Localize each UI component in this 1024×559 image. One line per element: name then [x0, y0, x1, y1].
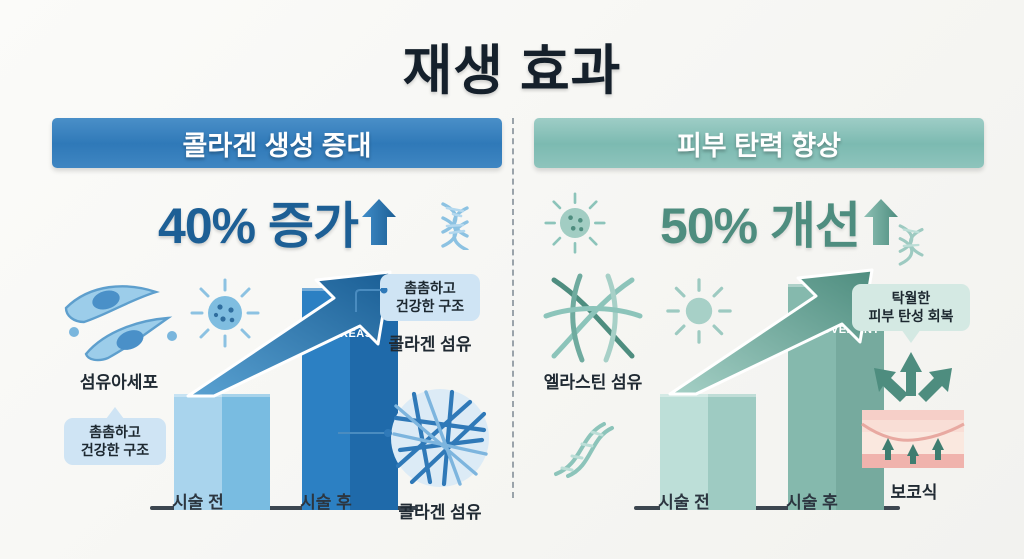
- up-arrow-icon: [362, 199, 396, 245]
- collagen-fiber-caption-top: 콜라겐 섬유: [350, 330, 510, 355]
- callout-dense-structure-bottom: 촘촘하고 건강한 구조: [64, 418, 166, 465]
- growth-arrow-icon: [666, 262, 878, 403]
- callout-dense-structure-top: 촘촘하고 건강한 구조: [380, 274, 480, 321]
- dna-helix-icon: [892, 222, 932, 273]
- panel-left-banner: 콜라겐 생성 증대: [52, 118, 502, 168]
- callout-leader-line-top: [354, 288, 388, 314]
- dna-helix-icon: [434, 200, 478, 255]
- headline-text: 50% 개선: [660, 186, 860, 258]
- panel-right-banner: 피부 탄력 향상: [534, 118, 984, 168]
- callout-elasticity-recovery: 탁월한 피부 탄성 회복: [852, 284, 970, 331]
- infographic-canvas: 재생 효과 콜라겐 생성 증대 40% 증가: [0, 0, 1024, 559]
- dna-helix-icon: [546, 418, 616, 485]
- panel-collagen: 콜라겐 생성 증대 40% 증가: [42, 118, 512, 543]
- microbe-icon: [544, 192, 606, 259]
- skin-label: 보코식: [834, 478, 994, 503]
- axis-label-before: 시술 전: [143, 488, 253, 513]
- page-title: 재생 효과: [0, 26, 1024, 105]
- collagen-fiber-caption-bottom: 콜라겐 섬유: [360, 498, 520, 523]
- headline-text: 40% 증가: [158, 186, 358, 258]
- collagen-fiber-mesh-icon: [390, 388, 490, 493]
- panel-elasticity: 피부 탄력 향상 50% 개선: [524, 118, 994, 543]
- skin-layers-icon: [854, 350, 972, 479]
- elastin-fiber-icon: [540, 272, 646, 369]
- axis-label-before: 시술 전: [629, 488, 739, 513]
- panel-divider: [512, 118, 514, 498]
- callout-leader-line-bottom: [338, 424, 394, 442]
